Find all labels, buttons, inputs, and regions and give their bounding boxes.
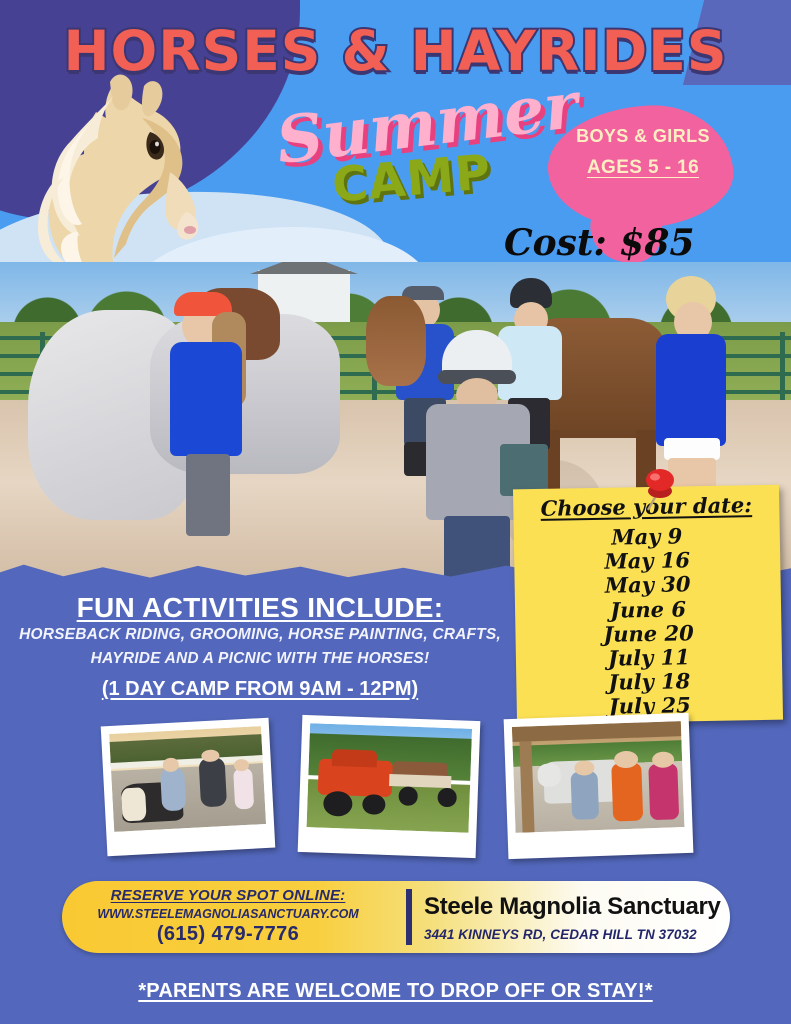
badge-line-1: BOYS & GIRLS — [548, 126, 738, 147]
website-link[interactable]: WWW.STEELEMAGNOLIASANCTUARY.COM — [76, 907, 380, 921]
organization-name: Steele Magnolia Sanctuary — [424, 893, 724, 921]
photo-thumb-1 — [101, 718, 276, 857]
flyer-page: HORSES & HAYRIDES Summer CAMP BOYS & GIR… — [0, 0, 791, 1024]
photo-girl-redcap — [160, 278, 252, 536]
contact-left: RESERVE YOUR SPOT ONLINE: WWW.STEELEMAGN… — [76, 887, 380, 946]
contact-divider — [406, 889, 412, 945]
camp-hours-note: (1 DAY CAMP FROM 9AM - 12PM) — [0, 678, 520, 701]
badge-line-2: AGES 5 - 16 — [548, 157, 738, 179]
photo-thumb-3 — [504, 713, 694, 859]
price-text: Cost: $85 — [504, 222, 695, 264]
organization-address: 3441 KINNEYS RD, CEDAR HILL TN 37032 — [424, 927, 724, 942]
age-badge: BOYS & GIRLS AGES 5 - 16 — [548, 126, 738, 179]
contact-bar: RESERVE YOUR SPOT ONLINE: WWW.STEELEMAGN… — [62, 881, 730, 953]
photo-thumb-3-image — [512, 721, 685, 833]
photo-brown-horse — [366, 296, 426, 386]
parents-note: *PARENTS ARE WELCOME TO DROP OFF OR STAY… — [0, 980, 791, 1003]
photo-thumb-1-image — [109, 726, 266, 832]
activities-line-1: HORSEBACK RIDING, GROOMING, HORSE PAINTI… — [0, 626, 520, 644]
pushpin-icon — [636, 466, 682, 514]
dates-sticky-note: Choose your date: May 9 May 16 May 30 Ju… — [513, 485, 783, 725]
photo-thumb-2-image — [307, 723, 473, 833]
title-camp-word: CAMP — [330, 148, 493, 210]
photo-thumb-2 — [298, 715, 481, 858]
activities-line-2: HAYRIDE AND A PICNIC WITH THE HORSES! — [0, 650, 520, 668]
page-title: HORSES & HAYRIDES — [0, 24, 791, 79]
contact-right: Steele Magnolia Sanctuary 3441 KINNEYS R… — [424, 893, 724, 942]
horse-head-icon — [18, 72, 203, 277]
phone-number[interactable]: (615) 479-7776 — [76, 923, 380, 946]
activities-heading: FUN ACTIVITIES INCLUDE: — [0, 592, 520, 624]
dates-list: May 9 May 16 May 30 June 6 June 20 July … — [514, 523, 783, 721]
reserve-label: RESERVE YOUR SPOT ONLINE: — [76, 887, 380, 904]
